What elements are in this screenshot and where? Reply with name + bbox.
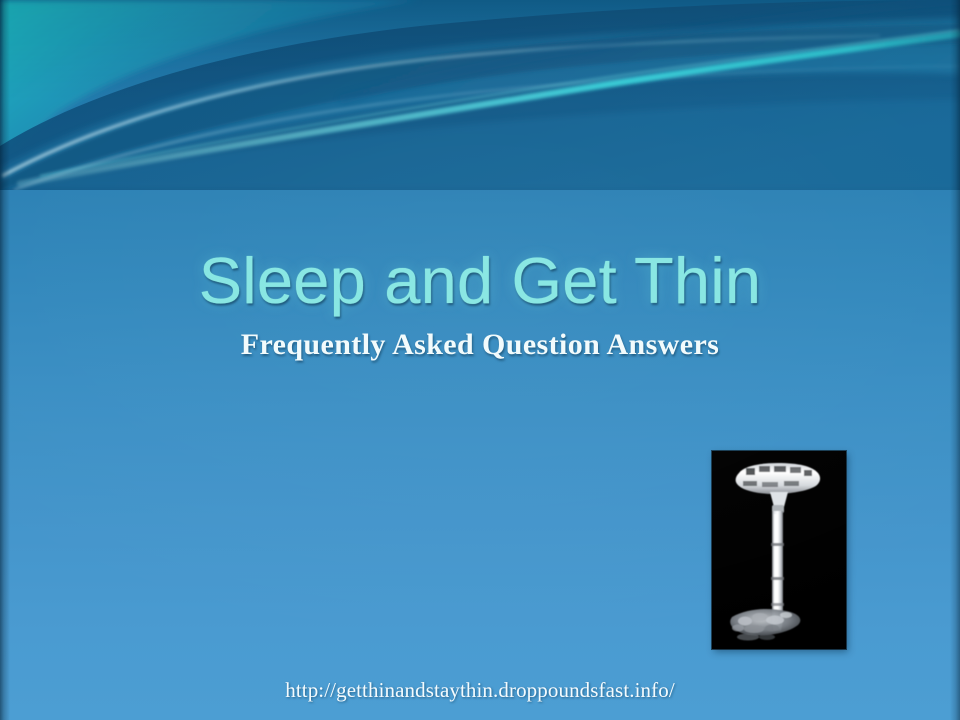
wave-shape-dark-band xyxy=(0,24,960,190)
url-caption: http://getthinandstaythin.droppoundsfast… xyxy=(0,678,960,703)
wave-highlight-cyan-edge xyxy=(40,30,960,176)
slide-title: Sleep and Get Thin xyxy=(0,248,960,314)
broom-rake-photo xyxy=(712,451,846,649)
wave-shadow-upper-right-streak xyxy=(340,0,960,100)
wave-shape-blend-lower xyxy=(0,100,960,190)
wave-highlight-pale-arc xyxy=(2,36,880,176)
wave-highlight-pale-arc-lower xyxy=(14,66,960,190)
wave-shape-mid-band xyxy=(0,18,960,190)
wave-highlight-cyan-ribbon xyxy=(20,34,960,184)
title-block: Sleep and Get Thin Frequently Asked Ques… xyxy=(0,248,960,362)
wave-shape-navy-base xyxy=(0,0,960,190)
slide-subtitle: Frequently Asked Question Answers xyxy=(0,328,960,362)
wave-shape-teal-upper-left xyxy=(0,0,420,160)
slide-picture xyxy=(712,451,846,649)
decorative-wave-band xyxy=(0,0,960,190)
presentation-slide: Sleep and Get Thin Frequently Asked Ques… xyxy=(0,0,960,720)
